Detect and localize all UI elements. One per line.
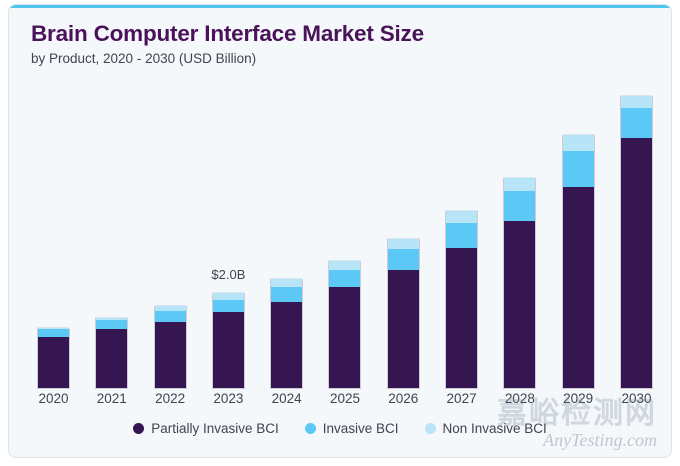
bar-segment[interactable] (562, 187, 595, 389)
legend-swatch-icon (133, 423, 144, 434)
x-axis-tick-2027: 2027 (445, 391, 478, 406)
bar-segment[interactable] (328, 270, 361, 287)
bar-segment[interactable] (212, 292, 245, 300)
bar-segment[interactable] (562, 134, 595, 151)
bar-segment[interactable] (328, 287, 361, 389)
bar-group[interactable] (37, 83, 70, 389)
page-title: Brain Computer Interface Market Size (31, 21, 651, 47)
bar-series-container: $2.0B (31, 83, 659, 389)
x-axis: 2020202120222023202420252026202720282029… (31, 391, 659, 406)
bar-segment[interactable] (270, 278, 303, 287)
legend-item[interactable]: Non Invasive BCI (425, 421, 547, 436)
bar-group[interactable] (503, 83, 536, 389)
bar-segment[interactable] (445, 248, 478, 389)
bar-segment[interactable] (387, 249, 420, 270)
bar-group[interactable] (387, 83, 420, 389)
bar-segment[interactable] (37, 337, 70, 389)
bar-segment[interactable] (154, 322, 187, 390)
bar-group[interactable] (270, 83, 303, 389)
chart-card: Brain Computer Interface Market Size by … (8, 4, 672, 458)
accent-top-border (9, 5, 671, 8)
x-axis-tick-2020: 2020 (37, 391, 70, 406)
chart-legend: Partially Invasive BCIInvasive BCINon In… (9, 421, 671, 436)
bar-segment[interactable] (620, 108, 653, 138)
bar-segment[interactable] (503, 221, 536, 389)
bar-segment[interactable] (212, 312, 245, 389)
bar-segment[interactable] (503, 177, 536, 192)
bar-group[interactable] (445, 83, 478, 389)
bar-segment[interactable] (445, 223, 478, 248)
bar-segment[interactable] (95, 329, 128, 389)
bar-group[interactable] (154, 83, 187, 389)
x-axis-tick-2021: 2021 (95, 391, 128, 406)
legend-item[interactable]: Invasive BCI (305, 421, 399, 436)
x-axis-tick-2022: 2022 (154, 391, 187, 406)
bar-value-label: $2.0B (211, 267, 245, 282)
legend-swatch-icon (305, 423, 316, 434)
x-axis-tick-2026: 2026 (387, 391, 420, 406)
legend-item[interactable]: Partially Invasive BCI (133, 421, 279, 436)
x-axis-tick-2029: 2029 (562, 391, 595, 406)
x-axis-tick-2023: 2023 (212, 391, 245, 406)
x-axis-tick-2025: 2025 (328, 391, 361, 406)
bar-group[interactable] (328, 83, 361, 389)
bar-segment[interactable] (620, 138, 653, 389)
bar-segment[interactable] (387, 270, 420, 389)
legend-label: Partially Invasive BCI (151, 421, 279, 436)
bar-group[interactable] (562, 83, 595, 389)
bar-segment[interactable] (154, 311, 187, 322)
bar-segment[interactable] (562, 151, 595, 188)
bar-segment[interactable] (270, 287, 303, 302)
bar-segment[interactable] (620, 95, 653, 109)
bar-segment[interactable] (212, 300, 245, 313)
chart-header: Brain Computer Interface Market Size by … (31, 21, 651, 67)
bar-group[interactable] (95, 83, 128, 389)
x-axis-tick-2024: 2024 (270, 391, 303, 406)
bar-segment[interactable] (328, 260, 361, 270)
plot-area: $2.0B (31, 83, 659, 389)
bar-segment[interactable] (445, 210, 478, 223)
bar-segment[interactable] (37, 329, 70, 337)
x-axis-tick-2030: 2030 (620, 391, 653, 406)
x-axis-tick-2028: 2028 (503, 391, 536, 406)
bar-segment[interactable] (270, 302, 303, 389)
legend-swatch-icon (425, 423, 436, 434)
bar-segment[interactable] (503, 191, 536, 221)
legend-label: Non Invasive BCI (443, 421, 547, 436)
bar-group[interactable]: $2.0B (212, 83, 245, 389)
bar-group[interactable] (620, 83, 653, 389)
chart-subtitle: by Product, 2020 - 2030 (USD Billion) (31, 51, 651, 67)
bar-segment[interactable] (387, 238, 420, 249)
bar-segment[interactable] (95, 320, 128, 329)
legend-label: Invasive BCI (323, 421, 399, 436)
